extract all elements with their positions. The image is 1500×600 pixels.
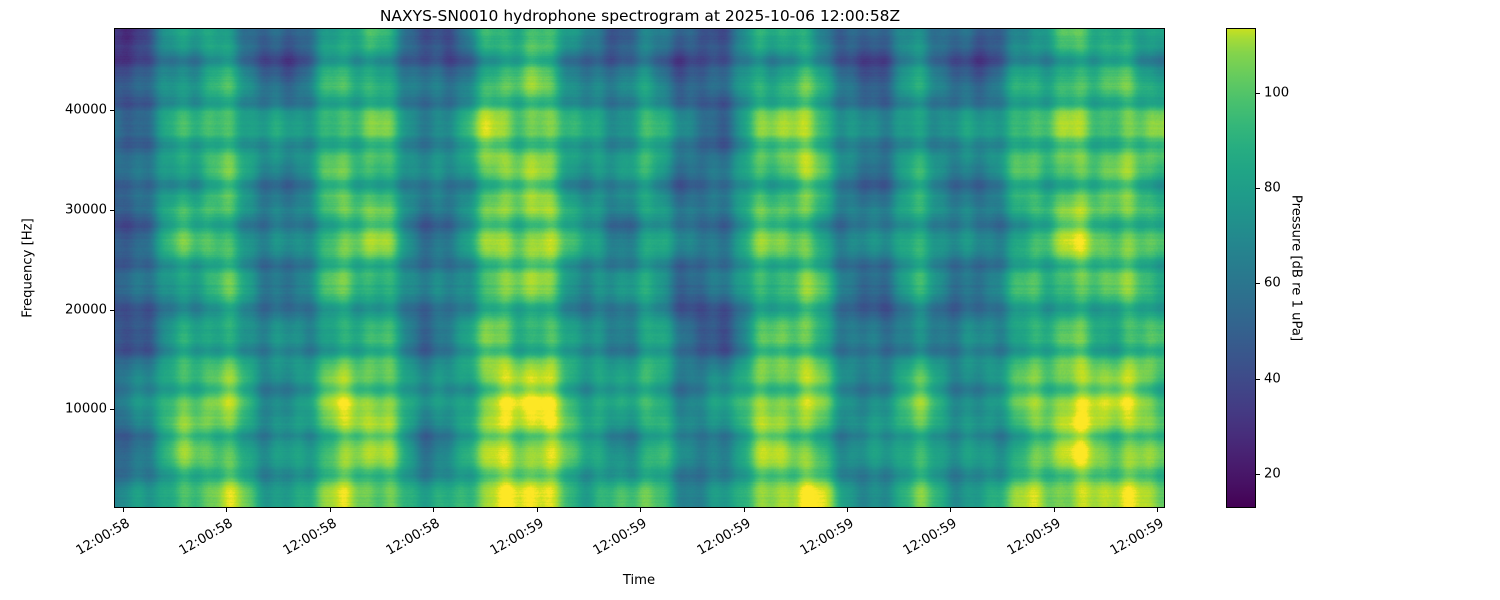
x-tick-mark <box>330 508 331 512</box>
x-tick-mark <box>226 508 227 512</box>
x-tick-mark <box>1054 508 1055 512</box>
colorbar-tick-mark <box>1256 379 1260 380</box>
x-tick-mark <box>1157 508 1158 512</box>
colorbar-tick-label: 40 <box>1264 372 1281 387</box>
x-tick-label: 12:00:58 <box>278 516 339 560</box>
y-tick-label: 40000 <box>65 103 107 118</box>
x-tick-label: 12:00:58 <box>174 516 235 560</box>
x-tick-label: 12:00:59 <box>1002 516 1063 560</box>
y-tick-mark <box>110 310 114 311</box>
x-axis-label: Time <box>623 573 655 588</box>
spectrogram-plot-area <box>114 28 1165 508</box>
colorbar-tick-mark <box>1256 93 1260 94</box>
x-tick-mark <box>744 508 745 512</box>
x-tick-mark <box>433 508 434 512</box>
colorbar-tick-label: 20 <box>1264 467 1281 482</box>
x-tick-label: 12:00:59 <box>588 516 649 560</box>
page-title: NAXYS-SN0010 hydrophone spectrogram at 2… <box>0 7 1280 25</box>
x-tick-mark <box>950 508 951 512</box>
spectrogram-image <box>115 29 1164 507</box>
x-tick-label: 12:00:59 <box>485 516 546 560</box>
x-tick-label: 12:00:59 <box>692 516 753 560</box>
colorbar-label: Pressure [dB re 1 uPa] <box>1289 195 1304 341</box>
x-tick-mark <box>123 508 124 512</box>
colorbar-tick-mark <box>1256 283 1260 284</box>
y-tick-label: 10000 <box>65 402 107 417</box>
x-tick-mark <box>640 508 641 512</box>
y-tick-label: 20000 <box>65 303 107 318</box>
x-tick-label: 12:00:59 <box>1105 516 1166 560</box>
y-tick-mark <box>110 409 114 410</box>
colorbar-tick-label: 100 <box>1264 86 1289 101</box>
figure-canvas: NAXYS-SN0010 hydrophone spectrogram at 2… <box>0 0 1500 600</box>
y-tick-label: 30000 <box>65 203 107 218</box>
colorbar <box>1226 28 1256 508</box>
colorbar-tick-mark <box>1256 188 1260 189</box>
x-tick-label: 12:00:59 <box>795 516 856 560</box>
x-tick-label: 12:00:58 <box>71 516 132 560</box>
x-tick-label: 12:00:58 <box>381 516 442 560</box>
x-tick-mark <box>847 508 848 512</box>
y-axis-label: Frequency [Hz] <box>21 218 36 317</box>
y-tick-mark <box>110 210 114 211</box>
y-tick-mark <box>110 110 114 111</box>
x-tick-mark <box>537 508 538 512</box>
colorbar-tick-label: 60 <box>1264 276 1281 291</box>
colorbar-tick-mark <box>1256 474 1260 475</box>
colorbar-tick-label: 80 <box>1264 181 1281 196</box>
x-tick-label: 12:00:59 <box>898 516 959 560</box>
